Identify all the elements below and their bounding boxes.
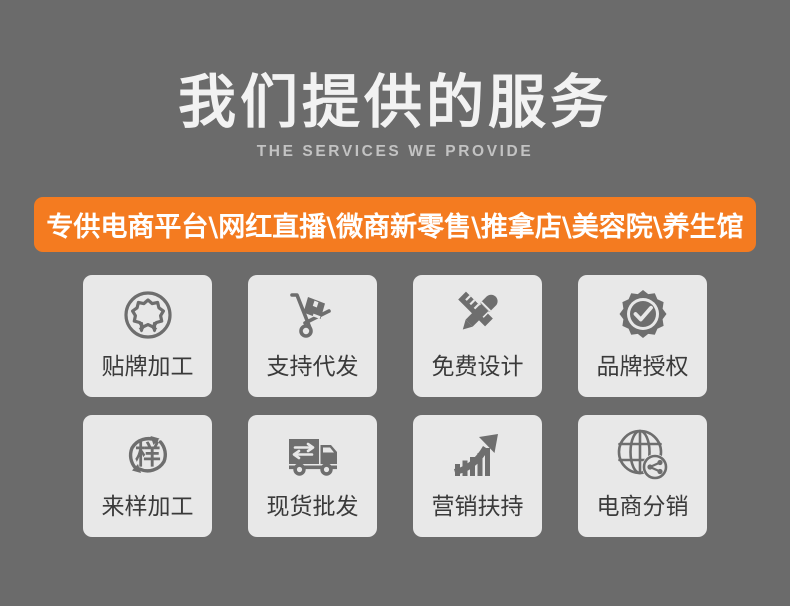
- service-card-oem[interactable]: 贴牌加工: [83, 275, 212, 397]
- service-card-marketing-support[interactable]: 营销扶持: [413, 415, 542, 537]
- channels-banner: 专供电商平台\网红直播\微商新零售\推拿店\美容院\养生馆: [34, 197, 756, 252]
- service-card-brand-authorization[interactable]: 品牌授权: [578, 275, 707, 397]
- service-card-label: 贴牌加工: [102, 347, 194, 381]
- page-subtitle: THE SERVICES WE PROVIDE: [0, 143, 790, 161]
- growth-chart-arrow-icon: [447, 424, 509, 486]
- delivery-truck-icon: [282, 424, 344, 486]
- hand-truck-icon: [282, 284, 344, 346]
- service-card-label: 品牌授权: [597, 347, 689, 381]
- channels-banner-text: 专供电商平台\网红直播\微商新零售\推拿店\美容院\养生馆: [46, 205, 743, 244]
- sample-refresh-icon: 样: [117, 424, 179, 486]
- service-card-dropship[interactable]: 支持代发: [248, 275, 377, 397]
- service-card-label: 免费设计: [432, 347, 524, 381]
- badge-rosette-icon: [117, 284, 179, 346]
- service-card-label: 来样加工: [102, 487, 194, 521]
- service-card-ecommerce-distribution[interactable]: 电商分销: [578, 415, 707, 537]
- service-card-label: 电商分销: [597, 487, 689, 521]
- page-title: 我们提供的服务: [0, 70, 790, 135]
- badge-check-icon: [612, 284, 674, 346]
- ruler-pencil-icon: [447, 284, 509, 346]
- service-card-grid: 贴牌加工 支持代发: [83, 275, 707, 537]
- service-card-label: 现货批发: [267, 487, 359, 521]
- globe-share-icon: [612, 424, 674, 486]
- service-card-free-design[interactable]: 免费设计: [413, 275, 542, 397]
- service-card-label: 支持代发: [267, 347, 359, 381]
- service-card-stock-wholesale[interactable]: 现货批发: [248, 415, 377, 537]
- service-card-sample-processing[interactable]: 样 来样加工: [83, 415, 212, 537]
- service-card-label: 营销扶持: [432, 487, 524, 521]
- service-promo-banner: 我们提供的服务 THE SERVICES WE PROVIDE 专供电商平台\网…: [0, 0, 790, 606]
- svg-text:样: 样: [134, 440, 160, 471]
- page-header: 我们提供的服务 THE SERVICES WE PROVIDE: [0, 70, 790, 161]
